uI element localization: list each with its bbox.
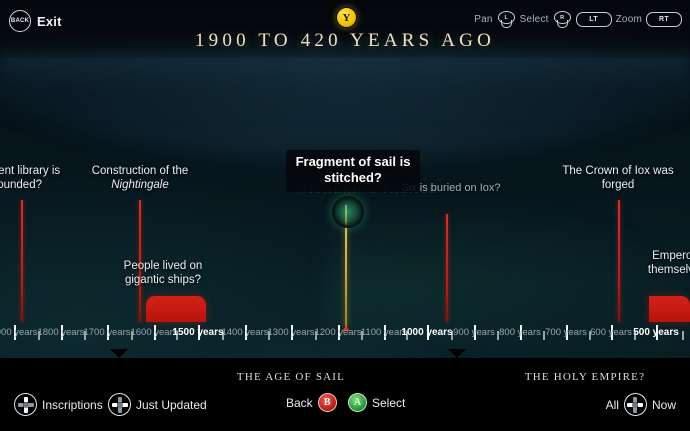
left-stick-icon: L [497, 11, 514, 28]
page-title: 1900 TO 420 YEARS AGO [0, 30, 690, 52]
ruler-label: 1100 years [361, 327, 407, 338]
selected-event-tooltip: Fragment of sail is stitched? [286, 150, 420, 192]
event-label: Construction of theNightingale [82, 165, 198, 192]
hint-zoom-label: Zoom [616, 14, 642, 25]
dpad-horizontal-icon [624, 393, 647, 416]
back-glyph: BACK [11, 18, 29, 24]
era-segment-label: The Holy Empire? [525, 371, 645, 383]
ruler-label: 700 years [545, 327, 587, 338]
ruler-label: 500 years [633, 327, 679, 338]
ruler-label: 1700 years [83, 327, 130, 338]
action-select[interactable]: A Select [348, 393, 405, 412]
hint-zoom[interactable]: LT Zoom RT [576, 12, 682, 27]
back-icon: BACK [9, 10, 31, 32]
ruler-tick-minor [682, 331, 684, 340]
y-button[interactable]: Y [336, 7, 357, 28]
action-inscriptions[interactable]: Inscriptions [14, 393, 103, 416]
selected-marker-node[interactable] [332, 196, 364, 228]
action-inscriptions-label: Inscriptions [42, 398, 103, 412]
ruler-label: 1600 years [130, 327, 177, 338]
ruler-label: 1500 years [172, 327, 223, 338]
lt-trigger-icon: LT [576, 12, 612, 27]
exit-label: Exit [37, 14, 62, 29]
ruler-label: 1200 years [314, 327, 361, 338]
event-label: Ancient library is founded? [0, 165, 68, 192]
ruler-label: 1400 years [221, 327, 268, 338]
event-marker[interactable] [21, 200, 23, 322]
hint-pan[interactable]: Pan L [474, 11, 513, 28]
action-just-updated-label: Just Updated [136, 398, 207, 412]
era-divider-notch [110, 349, 128, 358]
ruler-label: 1000 years [401, 327, 452, 338]
hint-select-label: Select [520, 14, 549, 25]
action-select-label: Select [372, 396, 405, 410]
action-all-now[interactable]: All Now [606, 393, 676, 416]
exit-button[interactable]: BACK Exit [9, 10, 62, 32]
event-marker[interactable] [618, 200, 620, 322]
dpad-horizontal-icon [108, 393, 131, 416]
event-label: Emperors themselves [632, 250, 690, 277]
era-segment-label: The Age of Sail [237, 371, 345, 383]
ruler-label: 1900 years [0, 327, 38, 338]
action-back[interactable]: Back B [286, 393, 337, 412]
a-button-icon: A [348, 393, 367, 412]
ruler-label: 600 years [590, 327, 632, 338]
ruler-label: 1800 years [37, 327, 84, 338]
hint-pan-label: Pan [474, 14, 492, 25]
timeline-screen: BACK Exit Y Pan L Select R LT Zoom RT 19… [0, 0, 690, 431]
dpad-vertical-icon [14, 393, 37, 416]
ruler-label: 900 years [453, 327, 495, 338]
rt-trigger-icon: RT [646, 12, 682, 27]
hint-select[interactable]: Select R [520, 11, 570, 28]
y-button-glyph: Y [343, 12, 351, 24]
b-button-icon: B [318, 393, 337, 412]
control-hints: Pan L Select R LT Zoom RT [474, 11, 682, 28]
action-now-label: Now [652, 398, 676, 412]
action-all-label: All [606, 398, 619, 412]
era-divider-notch [448, 349, 466, 358]
right-stick-icon: R [553, 11, 570, 28]
action-back-label: Back [286, 396, 313, 410]
event-marker[interactable] [446, 214, 448, 322]
ruler-label: 800 years [499, 327, 541, 338]
ruler-label: 1300 years [267, 327, 314, 338]
event-label: People lived on gigantic ships? [113, 260, 213, 287]
bottom-action-row: Inscriptions Just Updated Back B A Selec… [0, 393, 690, 417]
event-label: The Crown of Iox was forged [556, 165, 680, 192]
action-just-updated[interactable]: Just Updated [108, 393, 207, 416]
background-haze [0, 52, 690, 122]
